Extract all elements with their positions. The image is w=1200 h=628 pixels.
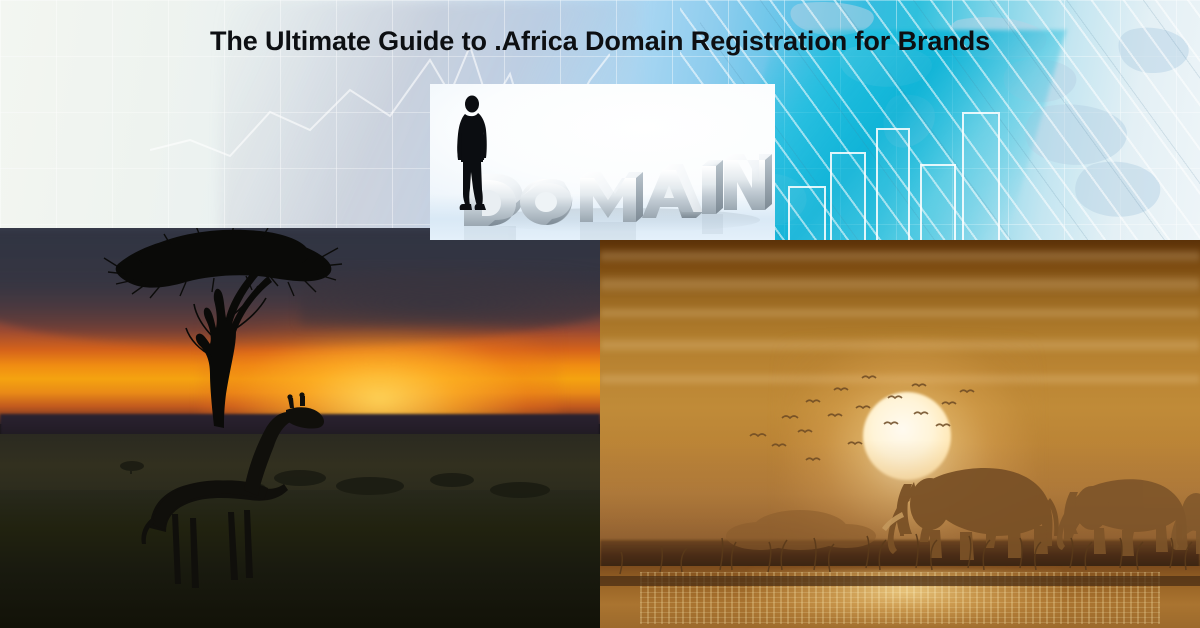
bar-outline bbox=[830, 152, 866, 240]
giraffe-icon bbox=[141, 392, 324, 588]
grass-tufts bbox=[620, 534, 1192, 574]
elephants-sunset-photo bbox=[600, 240, 1200, 628]
birds-flock-icon bbox=[750, 376, 974, 460]
article-hero-banner: The Ultimate Guide to .Africa Domain Reg… bbox=[0, 0, 1200, 628]
page-title: The Ultimate Guide to .Africa Domain Reg… bbox=[0, 26, 1200, 57]
savanna-sunset-giraffe-photo bbox=[0, 228, 600, 628]
savanna-silhouettes bbox=[0, 228, 600, 628]
bar-outline bbox=[920, 164, 956, 240]
bar-outline bbox=[962, 112, 1000, 240]
bar-outline bbox=[788, 186, 826, 240]
domain-3d-image bbox=[430, 84, 775, 240]
businessman-silhouette-icon bbox=[430, 84, 775, 240]
distant-bushes bbox=[726, 510, 876, 550]
bar-outline bbox=[876, 128, 910, 240]
header-bar-chart-outlines bbox=[780, 92, 1010, 240]
acacia-tree-icon bbox=[104, 228, 342, 428]
elephant-silhouettes bbox=[600, 240, 1200, 628]
